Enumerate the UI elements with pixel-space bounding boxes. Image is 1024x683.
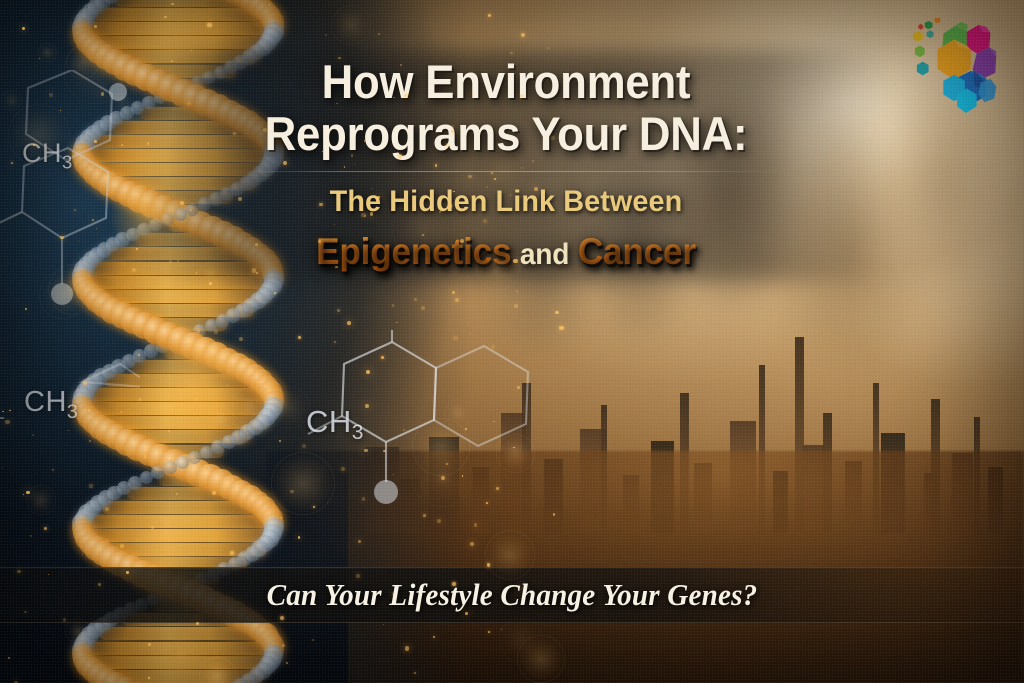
dna-backbone-bead (164, 461, 177, 474)
keyword-cancer-wrap: Cancer (578, 232, 696, 272)
poster-canvas: CH3 CH3 CH3 How Environment Reprograms Y… (0, 0, 1024, 683)
light-particle (144, 455, 147, 458)
light-particle (459, 56, 460, 57)
light-particle (89, 484, 92, 487)
light-particle (493, 421, 494, 422)
methyl-label: CH3 (306, 404, 364, 445)
light-particle (269, 4, 270, 5)
light-particle (267, 387, 271, 391)
light-particle (559, 326, 563, 330)
light-particle (230, 551, 233, 554)
light-particle (280, 517, 281, 518)
light-particle (520, 94, 524, 98)
light-particle (354, 164, 355, 165)
bokeh-circle (207, 406, 234, 433)
light-particle (196, 622, 199, 625)
light-particle (60, 236, 63, 239)
light-particle (553, 513, 556, 516)
light-particle (104, 175, 107, 178)
light-particle (338, 57, 340, 59)
light-particle (378, 33, 380, 35)
light-particle (551, 136, 555, 140)
dna-base-pair (83, 22, 273, 35)
bokeh-circle (331, 5, 371, 45)
keyword-cancer: Cancer (578, 231, 696, 272)
light-particle (446, 143, 450, 147)
light-particle (452, 125, 454, 127)
light-particle (358, 540, 361, 543)
bokeh-circle (64, 39, 129, 104)
light-particle (49, 93, 53, 97)
light-particle (168, 430, 170, 432)
light-particle (83, 381, 87, 385)
bokeh-circle (271, 452, 335, 516)
page-title-line-1: How Environment (218, 56, 795, 108)
light-particle (171, 3, 173, 5)
light-particle (312, 639, 313, 640)
bokeh-circle (1, 90, 22, 111)
light-particle (451, 130, 453, 132)
light-particle (169, 260, 171, 262)
light-particle (94, 140, 97, 143)
methyl-label: CH3 (24, 386, 78, 424)
bokeh-circle (411, 445, 473, 507)
light-particle (322, 151, 323, 152)
light-particle (414, 672, 416, 674)
light-particle (144, 449, 147, 452)
bokeh-circle (517, 635, 564, 682)
light-particle (370, 212, 374, 216)
light-particle (63, 618, 66, 621)
light-particle (214, 330, 218, 334)
light-particle (105, 507, 109, 511)
light-particle (233, 132, 236, 135)
logo-dot-green (925, 21, 933, 29)
dna-backbone-bead (176, 456, 189, 469)
logo-dot-lime (915, 45, 925, 57)
light-particle (148, 677, 150, 679)
light-particle (362, 497, 365, 500)
bokeh-circle (232, 387, 270, 425)
light-particle (398, 154, 402, 158)
logo-dot-teal (927, 30, 934, 38)
light-particle (547, 47, 549, 49)
bokeh-circle (392, 196, 455, 259)
caption-text: Can Your Lifestyle Change Your Genes? (31, 572, 994, 618)
light-particle (452, 291, 455, 294)
light-particle (423, 514, 426, 517)
light-particle (453, 336, 457, 340)
light-particle (302, 444, 306, 448)
light-particle (486, 502, 488, 504)
light-particle (483, 219, 487, 223)
light-particle (82, 553, 83, 554)
light-particle (187, 102, 190, 105)
light-particle (23, 494, 24, 495)
light-particle (392, 304, 394, 306)
light-particle (232, 479, 234, 481)
light-particle (405, 646, 409, 650)
light-particle (2, 411, 3, 412)
light-particle (180, 201, 184, 205)
light-particle (136, 248, 138, 250)
dna-base-pair (99, 627, 258, 640)
dna-backbone-bead (211, 440, 225, 454)
bokeh-circle (476, 247, 519, 290)
light-particle (421, 306, 425, 310)
polygonal-head-logo[interactable] (910, 18, 1008, 116)
light-particle (488, 14, 490, 16)
logo-dot-orange (935, 18, 941, 23)
conjunction-and: and (520, 238, 569, 271)
logo-dot-red (918, 24, 923, 30)
light-particle (319, 203, 322, 206)
light-particle (120, 544, 124, 548)
bokeh-circle (482, 150, 525, 193)
light-particle (414, 298, 417, 301)
light-particle (148, 643, 150, 645)
light-particle (256, 272, 258, 274)
light-particle (488, 631, 490, 633)
light-particle (318, 240, 321, 243)
light-particle (347, 321, 351, 325)
light-particle (171, 60, 173, 62)
dna-base-pair (115, 0, 240, 7)
light-particle (491, 345, 495, 349)
bokeh-circle (199, 262, 222, 285)
logo-dot-cyan (917, 62, 929, 76)
light-particle (11, 162, 13, 164)
bokeh-circle (267, 386, 310, 429)
light-particle (177, 260, 179, 262)
dna-base-pair (94, 8, 262, 21)
bokeh-circle (8, 104, 70, 166)
light-particle (106, 539, 109, 542)
light-particle (437, 519, 441, 523)
light-particle (169, 332, 173, 336)
light-particle (514, 304, 518, 308)
light-particle (256, 381, 259, 384)
light-particle (393, 97, 394, 98)
light-particle (138, 354, 139, 355)
dna-backbone-bead (151, 466, 164, 479)
light-particle (509, 129, 510, 130)
light-particle (92, 219, 94, 221)
light-particle (252, 268, 256, 272)
light-particle (465, 428, 466, 429)
light-particle (334, 341, 336, 343)
light-particle (263, 128, 267, 132)
light-particle (196, 272, 197, 273)
light-particle (325, 34, 327, 36)
bokeh-circle (26, 485, 55, 514)
light-particle (84, 16, 85, 17)
bokeh-circle (444, 399, 472, 427)
light-particle (255, 243, 258, 246)
light-particle (132, 268, 136, 272)
light-particle (517, 386, 520, 389)
logo-dot-yellow (913, 31, 923, 41)
light-particle (94, 25, 97, 28)
light-particle (5, 420, 9, 424)
light-particle (152, 316, 154, 318)
light-particle (74, 209, 76, 211)
light-particle (195, 399, 197, 401)
bokeh-circle (65, 618, 91, 644)
